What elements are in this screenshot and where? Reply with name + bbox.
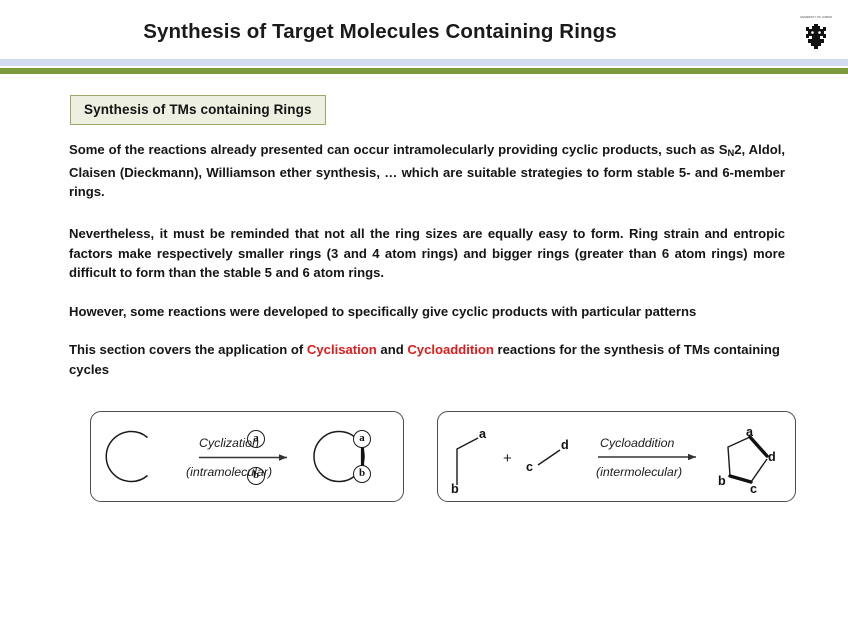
cyclization-arrow-bottom-label: (intramolecular) xyxy=(186,465,272,479)
plus-sign: + xyxy=(503,450,512,467)
cyclization-structures xyxy=(91,412,403,501)
reactant2-atom-c: c xyxy=(526,460,533,474)
keyword-cycloaddition: Cycloaddition xyxy=(407,342,494,357)
product-ring-thin-bonds xyxy=(728,437,750,476)
product-bond-c-d xyxy=(751,459,767,482)
cyclization-arrow-top-label: Cyclization xyxy=(199,436,259,450)
reactant2-chain-cd xyxy=(538,450,560,465)
cycloaddition-scheme: a b + c d Cycloaddition (intermolecular)… xyxy=(437,411,796,502)
page-title: Synthesis of Target Molecules Containing… xyxy=(0,20,760,44)
paragraph-intro-part1: Some of the reactions already presented … xyxy=(69,142,727,157)
header-band-blue xyxy=(0,59,848,66)
product-atom-b: b xyxy=(353,465,371,483)
header-band-green xyxy=(0,68,848,74)
paragraph-intro: Some of the reactions already presented … xyxy=(69,140,785,202)
product-atom-a: a xyxy=(746,425,753,439)
reactant1-chain-ab xyxy=(457,438,478,485)
logo-caption: UNIVERSITY OF LISBON xyxy=(795,16,837,20)
product-bond-b-c xyxy=(730,476,751,482)
reaction-arrow-head xyxy=(688,454,696,461)
reactant1-atom-a: a xyxy=(479,427,486,441)
product-atom-c: c xyxy=(750,482,757,496)
keyword-cyclisation: Cyclisation xyxy=(307,342,377,357)
cycloaddition-arrow-bottom-label: (intermolecular) xyxy=(596,465,682,479)
section-heading-chip: Synthesis of TMs containing Rings xyxy=(70,95,326,125)
paragraph-ring-strain: Nevertheless, it must be reminded that n… xyxy=(69,224,785,283)
paragraph-section-scope: This section covers the application of C… xyxy=(69,340,785,379)
product-atom-b: b xyxy=(718,474,726,488)
university-crest-logo: UNIVERSITY OF LISBON xyxy=(795,16,837,56)
reaction-arrow-head xyxy=(279,454,287,461)
product-atom-a: a xyxy=(353,430,371,448)
paragraph-however: However, some reactions were developed t… xyxy=(69,302,785,322)
product-bond-a-d xyxy=(750,437,767,456)
cycloaddition-arrow-top-label: Cycloaddition xyxy=(600,436,674,450)
scope-text-and: and xyxy=(377,342,408,357)
crest-icon xyxy=(800,22,832,54)
scope-text-part1: This section covers the application of xyxy=(69,342,307,357)
reactant1-atom-b: b xyxy=(451,482,459,496)
reactant2-atom-d: d xyxy=(561,438,569,452)
product-atom-d: d xyxy=(768,450,776,464)
reactant-open-chain-arc xyxy=(106,432,147,482)
cyclization-scheme: a b Cyclization (intramolecular) xyxy=(90,411,404,502)
cycloaddition-structures xyxy=(438,412,795,501)
